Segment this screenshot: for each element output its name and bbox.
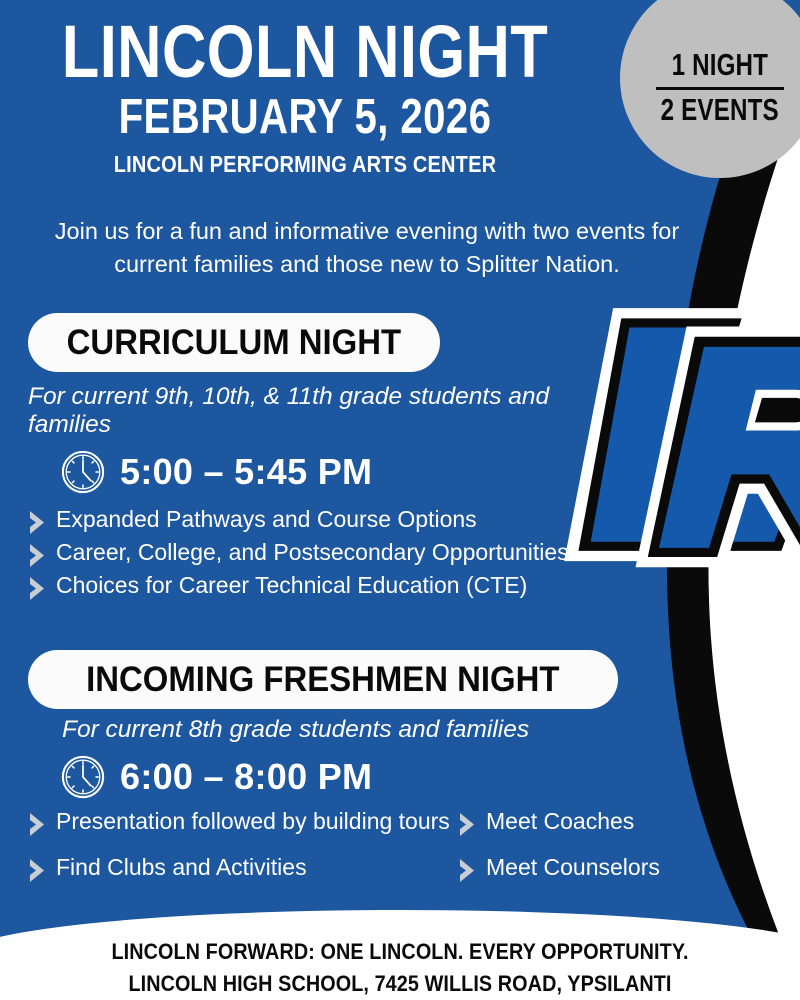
section-title-freshmen-label: INCOMING FRESHMEN NIGHT — [86, 660, 559, 700]
badge-top-label: 1 NIGHT — [672, 49, 768, 82]
chevron-right-icon — [28, 811, 47, 838]
lincoln-night-flyer: 1 NIGHT 2 EVENTS LINCOLN NIGHT FEBRUARY … — [0, 0, 800, 1000]
chevron-right-icon — [458, 811, 477, 838]
intro-paragraph: Join us for a fun and informative evenin… — [22, 215, 712, 282]
section-title-incoming-freshmen-night: INCOMING FRESHMEN NIGHT — [28, 650, 618, 709]
badge-divider — [656, 87, 784, 90]
chevron-right-icon — [28, 575, 47, 602]
footer-tagline: LINCOLN FORWARD: ONE LINCOLN. EVERY OPPO… — [4, 936, 796, 968]
badge-1-night-2-events: 1 NIGHT 2 EVENTS — [620, 0, 800, 178]
list-item-label: Find Clubs and Activities — [56, 854, 307, 882]
bullet-list-incoming-freshmen-night: Presentation followed by building tours … — [28, 808, 748, 900]
audience-curriculum-night: For current 9th, 10th, & 11th grade stud… — [28, 383, 588, 440]
list-item-label: Choices for Career Technical Education (… — [56, 572, 527, 600]
badge-bottom-label: 2 EVENTS — [661, 94, 779, 127]
list-item: Career, College, and Postsecondary Oppor… — [28, 539, 648, 569]
time-incoming-freshmen-night: 6:00 – 8:00 PM — [120, 756, 372, 798]
list-item-label: Meet Counselors — [486, 854, 660, 882]
event-date: FEBRUARY 5, 2026 — [55, 93, 555, 142]
list-item-label: Presentation followed by building tours — [56, 808, 450, 836]
chevron-right-icon — [458, 857, 477, 884]
list-item: Presentation followed by building tours — [28, 808, 458, 838]
list-item: Find Clubs and Activities — [28, 854, 458, 884]
header: LINCOLN NIGHT FEBRUARY 5, 2026 LINCOLN P… — [0, 16, 610, 178]
time-curriculum-night: 5:00 – 5:45 PM — [120, 451, 372, 493]
footer-band: LINCOLN FORWARD: ONE LINCOLN. EVERY OPPO… — [0, 910, 800, 1000]
page-title: LINCOLN NIGHT — [52, 16, 558, 87]
clock-icon — [60, 449, 106, 495]
event-venue: LINCOLN PERFORMING ARTS CENTER — [40, 151, 571, 178]
list-item: Choices for Career Technical Education (… — [28, 572, 648, 602]
bullet-list-curriculum-night: Expanded Pathways and Course Options Car… — [28, 506, 648, 605]
list-item-label: Expanded Pathways and Course Options — [56, 506, 477, 534]
list-item: Meet Coaches — [458, 808, 748, 838]
section-title-curriculum-label: CURRICULUM NIGHT — [67, 323, 401, 363]
time-row-incoming-freshmen-night: 6:00 – 8:00 PM — [60, 754, 372, 800]
footer-address: LINCOLN HIGH SCHOOL, 7425 WILLIS ROAD, Y… — [4, 968, 796, 1000]
audience-incoming-freshmen-night: For current 8th grade students and famil… — [62, 716, 642, 744]
section-title-curriculum-night: CURRICULUM NIGHT — [28, 313, 440, 372]
clock-icon — [60, 754, 106, 800]
list-item-label: Meet Coaches — [486, 808, 634, 836]
footer-content: LINCOLN FORWARD: ONE LINCOLN. EVERY OPPO… — [0, 936, 800, 1000]
chevron-right-icon — [28, 857, 47, 884]
list-item: Meet Counselors — [458, 854, 748, 884]
list-item: Expanded Pathways and Course Options — [28, 506, 648, 536]
list-item-label: Career, College, and Postsecondary Oppor… — [56, 539, 569, 567]
chevron-right-icon — [28, 509, 47, 536]
chevron-right-icon — [28, 542, 47, 569]
time-row-curriculum-night: 5:00 – 5:45 PM — [60, 449, 372, 495]
